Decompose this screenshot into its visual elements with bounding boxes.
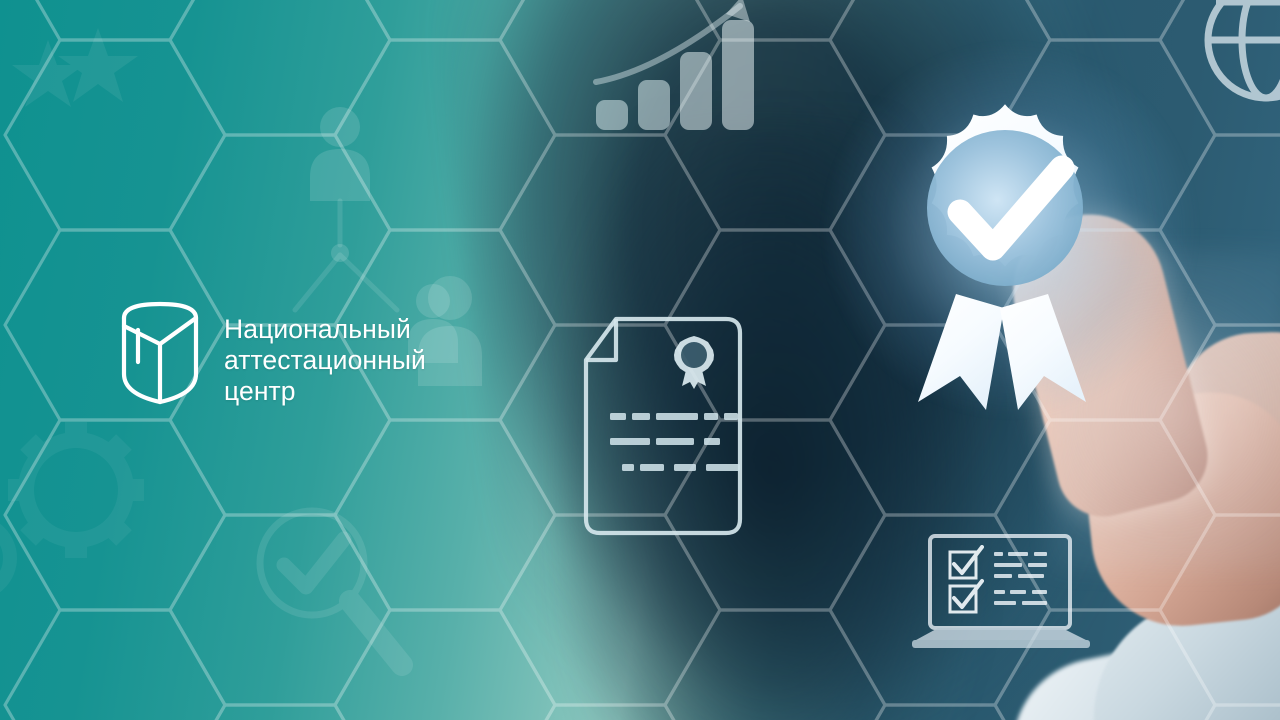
brand-name: Национальный аттестационный центр: [224, 296, 426, 407]
laptop-checklist-icon: [908, 528, 1108, 658]
globe-icon: [1228, 0, 1280, 128]
cylinder-book-logo-icon: [118, 296, 202, 408]
gear-icon: [0, 408, 178, 608]
brand-logo-block[interactable]: Национальный аттестационный центр: [118, 296, 426, 408]
award-badge-check-icon: [852, 58, 1152, 418]
star-icon: [10, 10, 210, 150]
certificate-document-icon: [578, 316, 758, 546]
magnifier-check-icon: [250, 505, 470, 705]
growth-bar-chart-icon: [590, 0, 760, 134]
banner-stage: Национальный аттестационный центр: [0, 0, 1280, 720]
